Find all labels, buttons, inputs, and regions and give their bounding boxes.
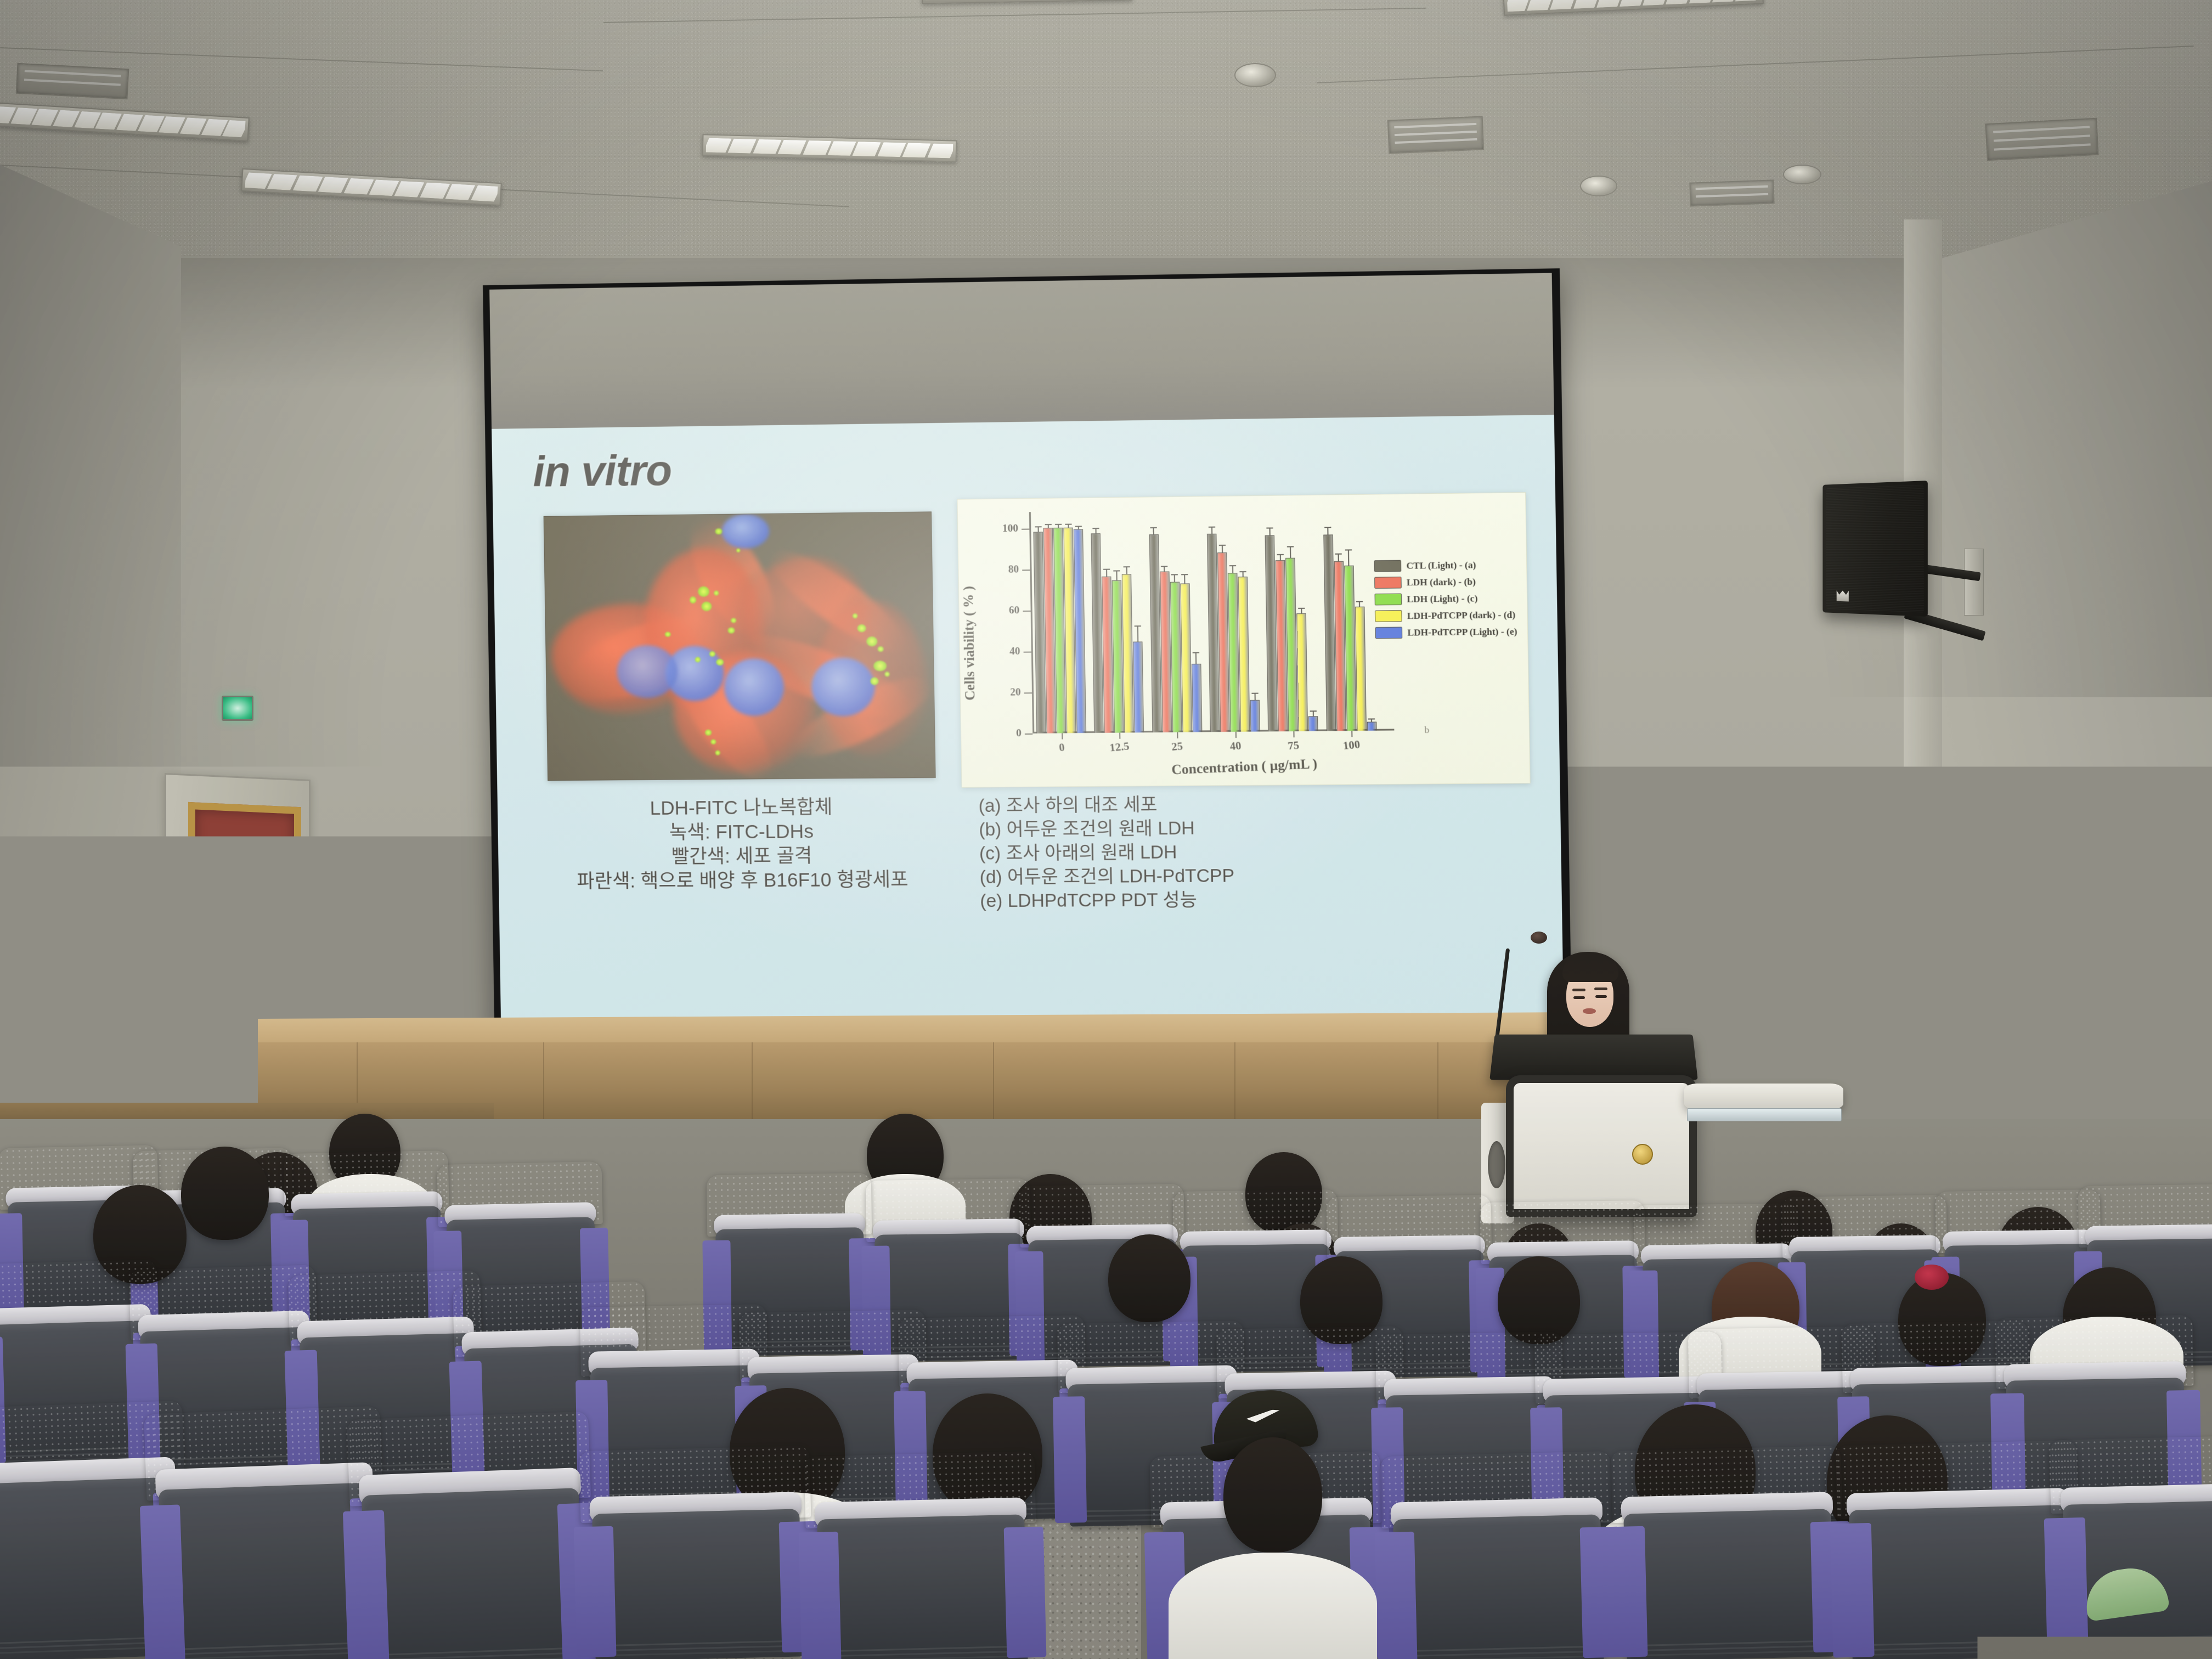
screen-blank-area: [489, 273, 1554, 432]
chart-legend-swatch: [1375, 610, 1402, 622]
presentation-slide: in vitro: [492, 415, 1564, 1026]
chart-error-bar: [1106, 568, 1107, 577]
caption-line: (b) 어두운 조건의 원래 LDH: [979, 815, 1485, 842]
recessed-downlight: [1783, 165, 1821, 184]
speaker-wall-plate: [1964, 549, 1984, 616]
side-table-rail: [1687, 1108, 1842, 1121]
chart-error-bar: [1222, 545, 1223, 553]
chart-error-bar: [1359, 601, 1360, 607]
chart-bar: [1250, 700, 1260, 731]
chart-legend-item: LDH (Light) - (c): [1374, 592, 1516, 605]
chart-error-bar: [1137, 626, 1139, 642]
chart-y-tick: [1024, 692, 1032, 693]
chart-legend-label: CTL (Light) - (a): [1406, 560, 1476, 572]
chart-error-bar: [1211, 526, 1212, 534]
seat-back: [158, 1482, 376, 1659]
chart-y-tick-label: 0: [1016, 727, 1022, 740]
chart-legend-item: LDH-PdTCPP (dark) - (d): [1375, 609, 1517, 622]
micrograph-caption: LDH-FITC 나노복합체녹색: FITC-LDHs빨간색: 세포 골격파란색…: [548, 794, 936, 894]
chart-x-tick-label: 100: [1342, 738, 1361, 753]
chart-bar-group: 40: [1203, 509, 1264, 732]
chart-error-bar: [1164, 566, 1165, 572]
chart-legend-label: LDH-PdTCPP (Light) - (e): [1407, 626, 1517, 638]
auditorium-seat[interactable]: [347, 1411, 597, 1659]
chart-error-bar: [1290, 546, 1291, 558]
lecture-hall-photo: in vitro: [0, 0, 2212, 1659]
chart-bar: [1297, 613, 1308, 731]
chart-bar: [1192, 664, 1202, 732]
chart-error-bar: [1047, 524, 1048, 528]
chart-error-bar: [1174, 574, 1175, 582]
caption-line: 파란색: 핵으로 배양 후 B16F10 형광세포: [549, 867, 936, 894]
audience-member-head: [1108, 1234, 1190, 1322]
caption-line: LDH-FITC 나노복합체: [548, 794, 935, 821]
chart-x-tick-label: 12.5: [1109, 740, 1130, 755]
chart-legend: CTL (Light) - (a)LDH (dark) - (b)LDH (Li…: [1374, 558, 1517, 639]
chart-bar: [1286, 558, 1298, 731]
auditorium-seat[interactable]: [804, 1451, 1039, 1659]
caption-line: 녹색: FITC-LDHs: [548, 819, 935, 846]
door-panel-upper: [188, 802, 301, 939]
chart-x-axis-title: Concentration ( µg/mL ): [1171, 757, 1318, 778]
chart-error-bar: [1371, 718, 1372, 723]
slide-title: in vitro: [533, 445, 672, 497]
door-led-display: [329, 960, 370, 977]
chart-error-bar: [1313, 710, 1314, 716]
lectern: [1506, 1075, 1697, 1217]
chart-bar: [1238, 577, 1250, 731]
chart-error-bar: [1116, 571, 1117, 581]
left-wall: [0, 165, 181, 1207]
chart-error-bar: [1153, 527, 1154, 535]
seat-back: [1393, 1515, 1604, 1659]
chart-y-axis-title: Cells viability ( % ): [961, 586, 979, 701]
chart-legend-swatch: [1374, 560, 1401, 572]
caption-line: 빨간색: 세포 골격: [549, 843, 936, 870]
microphone-head-icon: [1531, 932, 1547, 944]
presenter-eyebrow: [1572, 989, 1585, 991]
chart-error-bar: [1269, 528, 1271, 536]
chart-legend-swatch: [1375, 627, 1402, 639]
chart-panel-letter: b: [1424, 725, 1429, 736]
chart-x-tick: [1293, 731, 1294, 737]
chart-x-tick-label: 25: [1171, 740, 1184, 754]
chart-x-tick: [1177, 732, 1178, 738]
presenter-eye: [1573, 996, 1585, 999]
ceiling-air-vent: [1985, 118, 2098, 161]
ceiling-air-vent: [1689, 179, 1774, 206]
recessed-downlight: [1234, 63, 1276, 87]
chart-error-bar: [1058, 524, 1059, 528]
chart-legend-swatch: [1374, 594, 1402, 606]
chart-error-bar: [1232, 565, 1233, 573]
door-panel-upper: [1694, 839, 1818, 985]
chart-y-tick-label: 100: [1002, 522, 1018, 535]
chart-bar-group: 75: [1261, 509, 1322, 731]
seat-back: [362, 1488, 585, 1659]
chart-x-tick: [1062, 733, 1063, 739]
auditorium-seat[interactable]: [1610, 1446, 1846, 1659]
emergency-exit-sign: [222, 696, 253, 721]
chart-error-bar: [1126, 566, 1127, 574]
cap-logo-icon: [1246, 1409, 1281, 1423]
chart-bar-group: 0: [1029, 511, 1091, 733]
chart-legend-label: LDH (Light) - (c): [1407, 593, 1477, 605]
chart-x-tick-label: 0: [1058, 741, 1065, 754]
chart-y-tick: [1024, 651, 1031, 652]
caption-line: (a) 조사 하의 대조 세포: [978, 791, 1484, 818]
seat-back: [1623, 1509, 1834, 1659]
seat-side-panel: [343, 1510, 390, 1659]
seat-side-panel: [1053, 1396, 1087, 1522]
chart-legend-item: CTL (Light) - (a): [1374, 558, 1516, 572]
caption-line: (d) 어두운 조건의 LDH-PdTCPP: [979, 862, 1486, 889]
hair-scrunchie: [1915, 1265, 1949, 1290]
chart-x-tick: [1119, 733, 1120, 739]
audience-member-head: [1223, 1437, 1322, 1553]
chart-bar-group: 12.5: [1087, 511, 1148, 733]
chart-y-tick-label: 40: [1009, 645, 1020, 657]
chart-bar: [1122, 574, 1134, 732]
recessed-downlight: [1580, 176, 1617, 196]
chart-bar-group: 100: [1319, 508, 1381, 731]
lectern-emblem-icon: [1632, 1144, 1653, 1165]
presenter-eyebrow: [1594, 988, 1607, 990]
seat-side-panel: [1605, 1526, 1647, 1658]
chart-error-bar: [1280, 554, 1281, 560]
chart-bar-group: 25: [1144, 510, 1206, 733]
chart-bar: [1344, 565, 1356, 731]
chart-bar: [1180, 584, 1192, 732]
confocal-micrograph-image: [544, 511, 936, 781]
presenter-mouth: [1583, 1008, 1596, 1014]
audience-member-head: [181, 1147, 269, 1240]
seat-side-panel: [140, 1504, 185, 1659]
chart-y-tick: [1022, 528, 1029, 529]
panel-legend-caption: (a) 조사 하의 대조 세포(b) 어두운 조건의 원래 LDH(c) 조사 …: [978, 791, 1486, 913]
chart-y-tick-label: 20: [1010, 686, 1021, 698]
seat-back: [1849, 1505, 2070, 1659]
chart-legend-label: LDH-PdTCPP (dark) - (d): [1407, 609, 1516, 621]
seat-back: [817, 1515, 1028, 1659]
wall-outlet[interactable]: [15, 953, 41, 983]
caption-line: (e) LDHPdTCPP PDT 성능: [980, 886, 1486, 912]
chart-legend-item: LDH-PdTCPP (Light) - (e): [1375, 625, 1517, 639]
presenter-eye: [1595, 995, 1607, 998]
ceiling-air-vent: [1387, 116, 1484, 154]
presenter-bangs: [1562, 953, 1618, 982]
auditorium-seat[interactable]: [579, 1446, 814, 1659]
seat-side-panel: [1375, 1532, 1417, 1659]
chart-y-tick-label: 80: [1008, 563, 1019, 575]
audience-member-head: [1498, 1256, 1580, 1344]
chart-y-tick-label: 60: [1009, 605, 1020, 617]
side-table: [1684, 1084, 1843, 1110]
chart-y-tick: [1025, 733, 1032, 735]
chart-bar-groups: 012.5254075100: [1029, 508, 1381, 733]
chart-error-bar: [1095, 528, 1096, 534]
chart-x-tick: [1235, 732, 1236, 738]
seat-side-panel: [1004, 1527, 1046, 1658]
chart-error-bar: [1184, 574, 1185, 584]
chart-error-bar: [1077, 526, 1079, 530]
auditorium-seat[interactable]: [1380, 1451, 1615, 1659]
chart-bar: [1367, 722, 1377, 731]
cell-viability-bar-chart: Cells viability ( % ) Concentration ( µg…: [957, 492, 1530, 788]
chart-error-bar: [1254, 692, 1255, 701]
lectern-top-surface: [1489, 1035, 1698, 1080]
chart-y-tick: [1023, 611, 1030, 612]
chart-bar: [1308, 716, 1318, 731]
door-handle-right[interactable]: [1673, 996, 1707, 1013]
chart-error-bar: [1195, 652, 1197, 664]
chart-bar: [1091, 533, 1104, 733]
chart-bar: [1149, 534, 1161, 732]
caption-line: (c) 조사 아래의 원래 LDH: [979, 838, 1486, 865]
wall-speaker: [1822, 481, 1927, 617]
ceiling-air-vent: [16, 63, 129, 100]
chart-error-bar: [1242, 571, 1243, 577]
chart-y-tick: [1022, 569, 1030, 571]
chart-error-bar: [1328, 527, 1329, 535]
auditorium-seat[interactable]: [2049, 1435, 2212, 1657]
seat-side-panel: [799, 1532, 841, 1659]
audience-member-shoulders: [1169, 1553, 1377, 1659]
lectern-handle-cutout: [1488, 1141, 1505, 1188]
seat-side-panel: [574, 1526, 616, 1658]
door-handle-left[interactable]: [273, 944, 307, 961]
chart-error-bar: [1068, 524, 1069, 528]
projection-screen: in vitro: [483, 268, 1572, 1031]
chart-legend-item: LDH (dark) - (b): [1374, 575, 1516, 589]
chart-error-bar: [1348, 550, 1350, 566]
chart-x-tick: [1352, 731, 1353, 737]
seat-back: [592, 1509, 803, 1659]
chart-bar: [1355, 606, 1367, 731]
chart-x-tick-label: 40: [1229, 740, 1242, 753]
chart-legend-swatch: [1374, 577, 1402, 589]
chart-legend-label: LDH (dark) - (b): [1407, 576, 1476, 588]
wall-column: [1904, 219, 1942, 1042]
chart-error-bar: [1037, 526, 1039, 532]
chart-x-tick-label: 75: [1287, 739, 1300, 753]
chart-bar: [1133, 641, 1144, 732]
chart-error-bar: [1301, 608, 1302, 614]
chart-plot-area: 020406080100 012.5254075100: [1029, 508, 1381, 733]
chart-error-bar: [1338, 554, 1339, 562]
seat-side-panel: [2044, 1517, 2089, 1652]
seat-side-panel: [1830, 1523, 1875, 1658]
